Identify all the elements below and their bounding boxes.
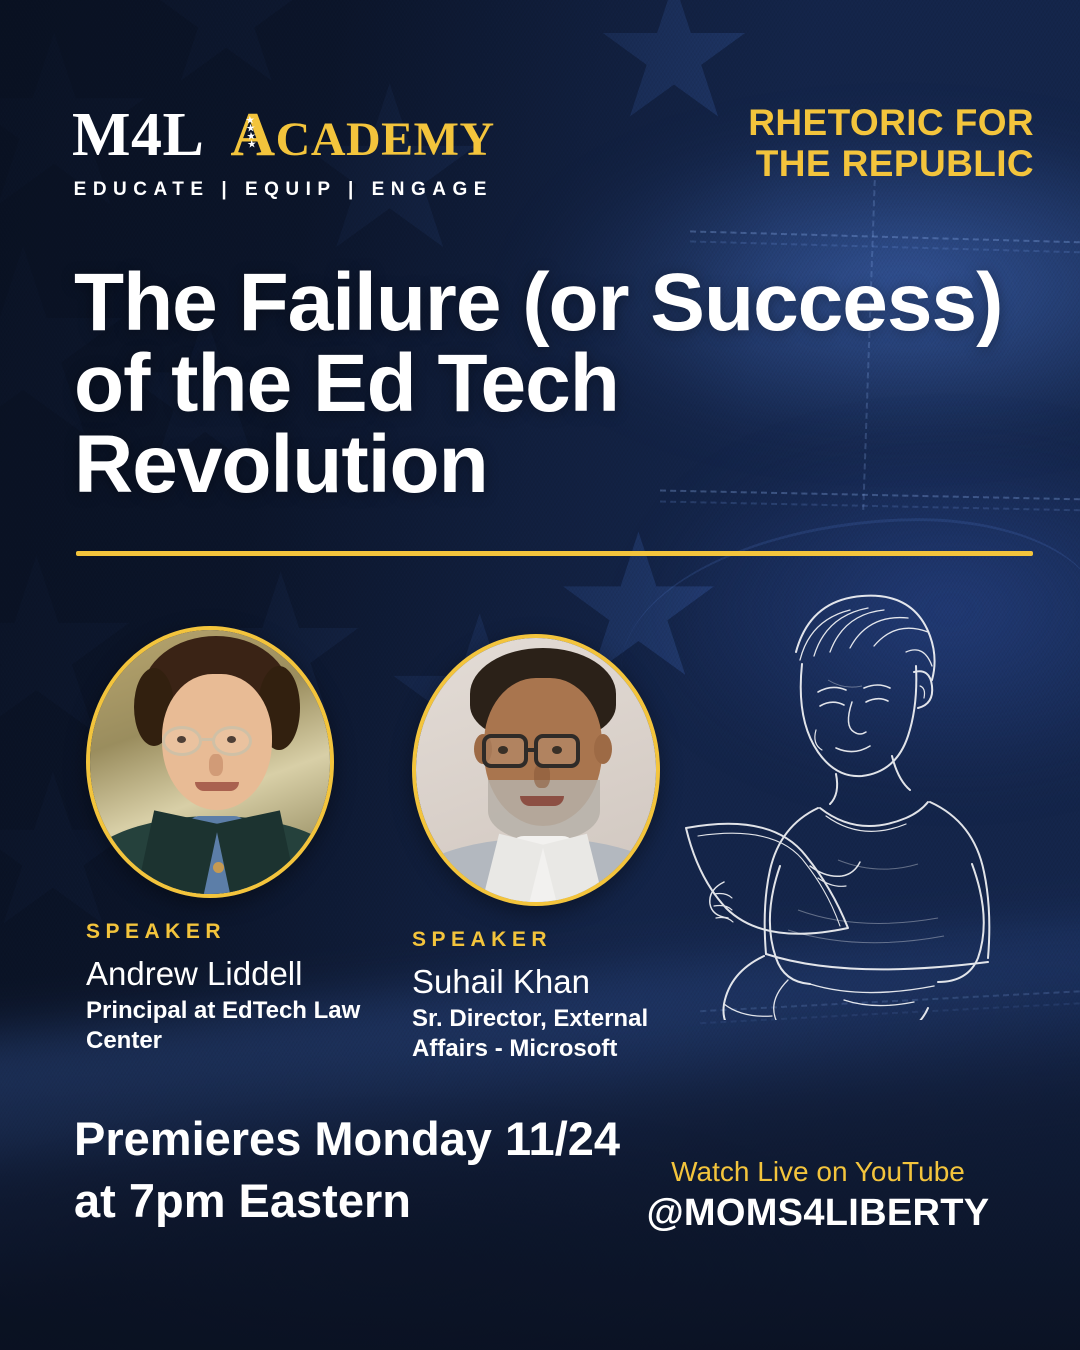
avatar <box>412 634 660 906</box>
speaker-role: Principal at EdTech Law Center <box>86 996 386 1056</box>
watch-info: Watch Live on YouTube @MOMS4LIBERTY <box>608 1156 1028 1235</box>
speaker-name: Andrew Liddell <box>86 956 386 992</box>
boy-with-tablet-sketch-icon <box>668 560 1080 1020</box>
logo-wordmark-row: M4L ACADEMY ★★★★ <box>72 100 495 171</box>
youtube-handle[interactable]: @MOMS4LIBERTY <box>608 1192 1028 1235</box>
event-promo-poster: ★ ★ ★ ★ ★ ★ ★ ★ ★ ★ ★ M4L ACADEMY <box>0 0 1080 1350</box>
avatar <box>86 626 334 898</box>
premiere-time: at 7pm Eastern <box>74 1170 694 1232</box>
gold-divider-rule <box>76 551 1033 556</box>
series-kicker-line1: RHETORIC FOR <box>614 102 1034 143</box>
speaker-card-2: SPEAKER Suhail Khan Sr. Director, Extern… <box>412 626 712 1064</box>
event-title-line2: of the Ed Tech <box>74 343 1054 424</box>
speaker-role: Sr. Director, External Affairs - Microso… <box>412 1004 712 1064</box>
series-kicker-line2: THE REPUBLIC <box>614 143 1034 184</box>
premiere-date: Premieres Monday 11/24 <box>74 1108 694 1170</box>
speaker-card-1: SPEAKER Andrew Liddell Principal at EdTe… <box>86 626 386 1056</box>
logo-tagline: EDUCATE | EQUIP | ENGAGE <box>72 179 495 201</box>
headshot-andrew-liddell <box>90 630 330 894</box>
series-kicker: RHETORIC FOR THE REPUBLIC <box>614 102 1034 185</box>
poster-header: M4L ACADEMY ★★★★ EDUCATE | EQUIP | ENGAG… <box>0 92 1080 212</box>
speaker-name: Suhail Khan <box>412 964 712 1000</box>
event-title-line3: Revolution <box>74 424 1054 505</box>
logo-academy-initial: A <box>230 101 275 169</box>
speaker-label: SPEAKER <box>412 928 712 952</box>
speaker-label: SPEAKER <box>86 920 386 944</box>
event-title-line1: The Failure (or Success) <box>74 262 1054 343</box>
logo-academy-text: ACADEMY ★★★★ <box>230 100 494 171</box>
premiere-info: Premieres Monday 11/24 at 7pm Eastern <box>74 1108 694 1232</box>
logo-academy-rest: CADEMY <box>276 113 495 166</box>
logo-m4l-text: M4L <box>72 100 204 171</box>
m4l-academy-logo: M4L ACADEMY ★★★★ EDUCATE | EQUIP | ENGAG… <box>72 100 495 201</box>
watch-platform-label: Watch Live on YouTube <box>608 1156 1028 1188</box>
event-title: The Failure (or Success) of the Ed Tech … <box>74 262 1054 506</box>
headshot-suhail-khan <box>416 638 656 902</box>
